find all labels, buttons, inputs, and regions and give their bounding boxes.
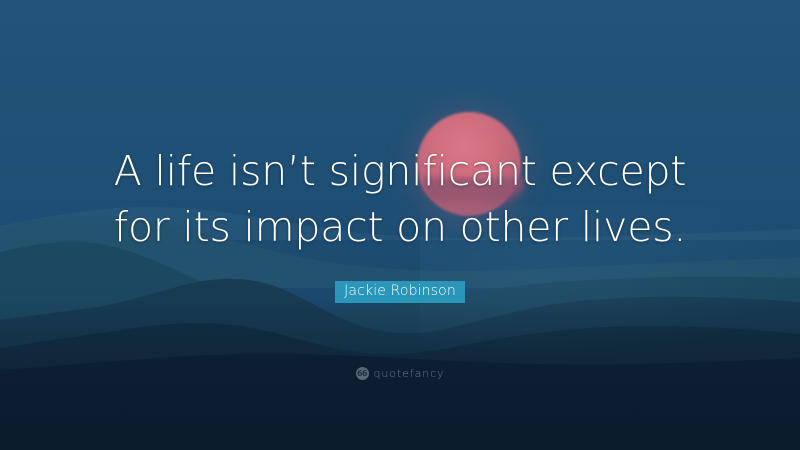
quote-text: A life isn’t significant except for its … bbox=[60, 143, 740, 255]
quote-line-1: A life isn’t significant except bbox=[60, 143, 740, 199]
quotefancy-logo-icon: 66 bbox=[356, 367, 369, 380]
mountain-foreground-layer bbox=[0, 336, 800, 450]
watermark: 66 quotefancy bbox=[0, 363, 800, 381]
author-attribution: Jackie Robinson bbox=[0, 281, 800, 303]
watermark-inner[interactable]: 66 quotefancy bbox=[356, 367, 445, 380]
watermark-brand-label: quotefancy bbox=[374, 367, 445, 380]
quote-line-2: for its impact on other lives. bbox=[60, 199, 740, 255]
quote-image-canvas: A life isn’t significant except for its … bbox=[0, 0, 800, 450]
author-name-badge[interactable]: Jackie Robinson bbox=[335, 281, 465, 303]
